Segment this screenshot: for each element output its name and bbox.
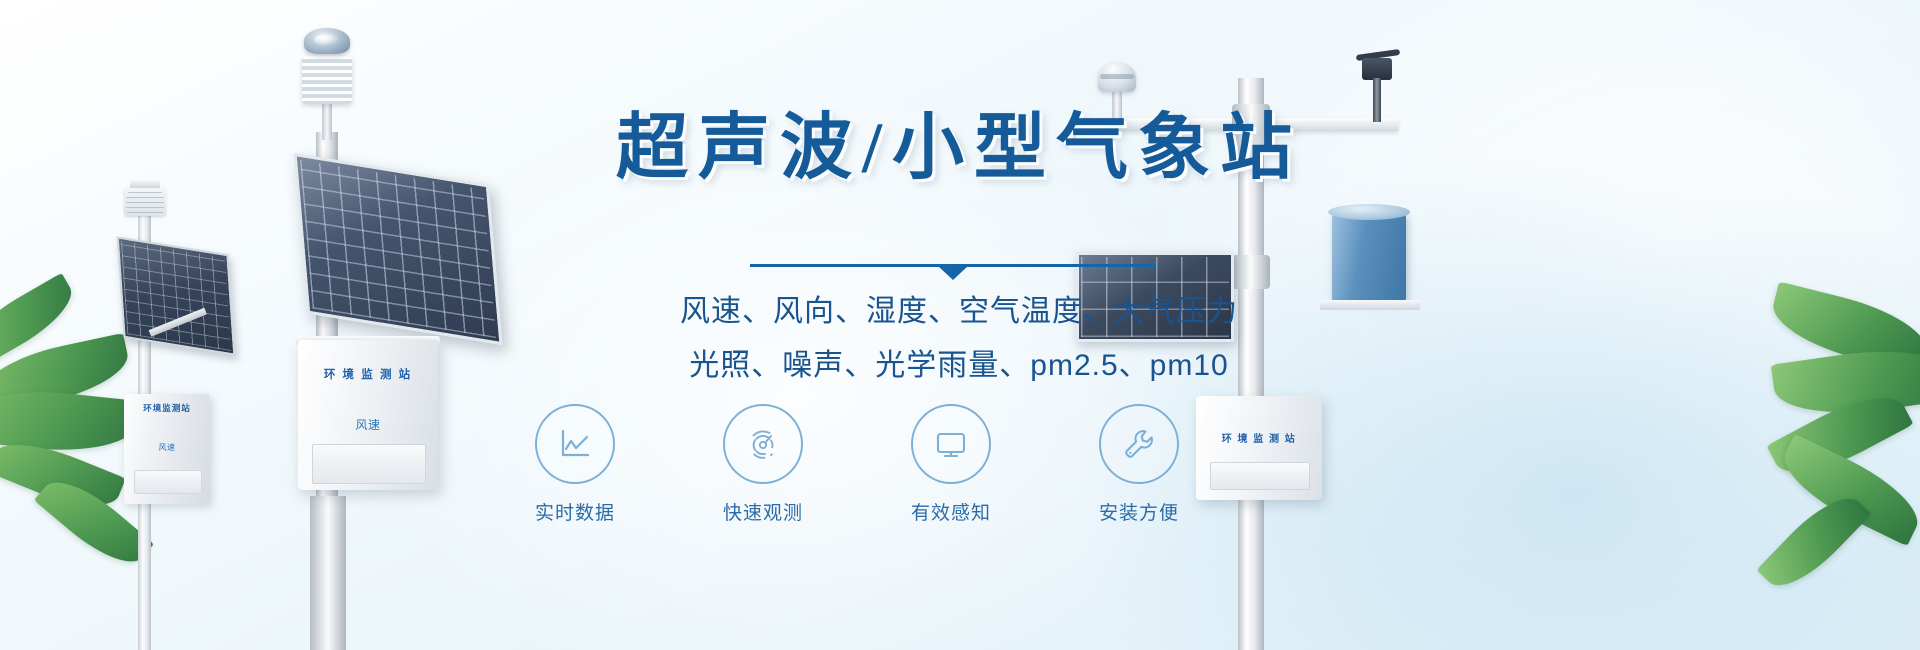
tall-station-ultrasonic-sensor: [304, 28, 350, 54]
wrench-tool-icon: [1099, 404, 1179, 484]
product-banner: 环境监测站 风速 环 境 监 测 站 风速 环 境 监 测 站 超声波/小型气象…: [0, 0, 1920, 650]
feature-label: 快速观测: [723, 498, 803, 525]
feature-list: 实时数据 快速观测: [510, 404, 1408, 525]
monitor-display-icon: [911, 404, 991, 484]
tall-station-radiation-shield: [302, 56, 352, 104]
banner-headline: 超声波/小型气象站: [444, 112, 1474, 184]
tall-station-base-pole: [310, 496, 346, 650]
feature-label: 安装方便: [1099, 498, 1179, 525]
feature-item-effective-sensing[interactable]: 有效感知: [886, 404, 1016, 525]
feature-item-fast-observation[interactable]: 快速观测: [698, 404, 828, 525]
subtitle-line-2: 光照、噪声、光学雨量、pm2.5、pm10: [444, 340, 1474, 384]
feature-item-easy-installation[interactable]: 安装方便: [1074, 404, 1204, 525]
banner-content: 超声波/小型气象站 风速、风向、湿度、空气温度、大气压力 光照、噪声、光学雨量、…: [444, 0, 1474, 650]
feature-label: 实时数据: [535, 498, 615, 525]
feature-label: 有效感知: [911, 498, 991, 525]
feature-item-realtime-data[interactable]: 实时数据: [510, 404, 640, 525]
small-station-brand-label: 风速: [134, 442, 200, 453]
tall-station-cabinet-label: 环 境 监 测 站: [306, 366, 430, 382]
small-station-cabinet-label: 环境监测站: [130, 402, 204, 414]
left-product-scene: 环境监测站 风速 环 境 监 测 站 风速: [0, 0, 520, 650]
small-station-radiation-shield: [126, 192, 164, 214]
headline-divider: [750, 256, 1156, 278]
subtitle-line-1: 风速、风向、湿度、空气温度、大气压力: [444, 286, 1474, 330]
tall-station-cabinet-door: [312, 444, 426, 484]
divider-triangle-icon: [938, 266, 968, 280]
tall-station-brand-label: 风速: [306, 416, 430, 433]
small-station-cabinet-panel: [134, 470, 202, 494]
line-chart-icon: [535, 404, 615, 484]
small-station-solar-panel: [117, 236, 236, 355]
radar-signal-icon: [723, 404, 803, 484]
